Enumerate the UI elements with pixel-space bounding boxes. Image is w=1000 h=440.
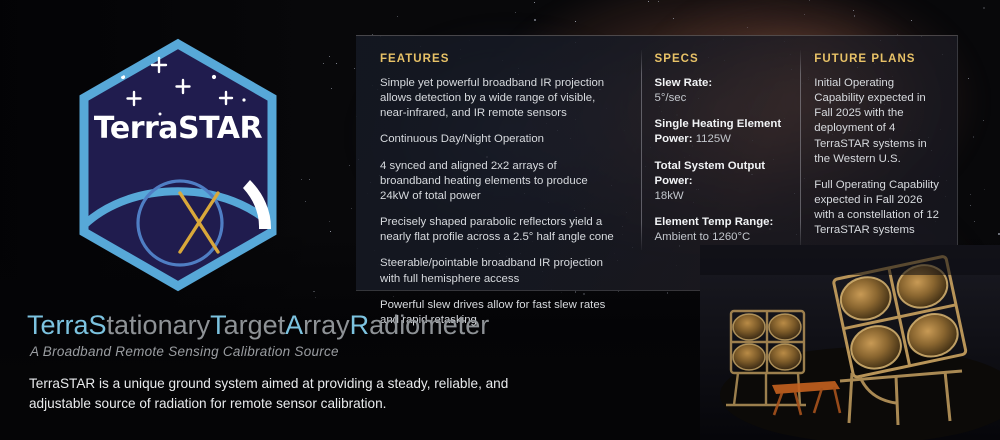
subtitle: A Broadband Remote Sensing Calibration S… — [30, 344, 339, 359]
spec-label: Slew Rate: — [655, 77, 713, 89]
acronym-part: rray — [303, 310, 350, 340]
terrastar-badge-logo: TerraSTAR — [68, 38, 288, 292]
acronym-part: A — [285, 310, 303, 340]
specs-heading: SPECS — [655, 53, 789, 65]
reflector-array-illustration — [700, 245, 1000, 440]
spec-row: Element Temp Range: Ambient to 1260°C — [655, 215, 789, 245]
badge-wordmark: TerraSTAR — [94, 111, 263, 146]
future-plans-item: Initial Operating Capability expected in… — [814, 76, 943, 167]
acronym-part: arget — [224, 310, 286, 340]
spec-label: Total System Output Power: — [655, 160, 766, 187]
spec-label: Element Temp Range: — [655, 216, 774, 228]
reflector-array-photo — [700, 245, 1000, 440]
spec-row: Single Heating Element Power: 1125W — [655, 117, 789, 147]
features-item: Precisely shaped parabolic reflectors yi… — [380, 215, 619, 245]
acronym-title: TerraStationaryTargetArrayRadiometer — [27, 312, 489, 339]
column-divider — [800, 50, 801, 250]
acronym-part: Terra — [27, 310, 89, 340]
lead-paragraph: TerraSTAR is a unique ground system aime… — [29, 374, 529, 414]
spec-value: Ambient to 1260°C — [655, 231, 751, 243]
acronym-part: S — [89, 310, 107, 340]
spec-value: 5°/sec — [655, 92, 687, 104]
hexagon-outline — [84, 44, 272, 286]
features-item: Steerable/pointable broadband IR project… — [380, 256, 619, 286]
acronym-part: tationary — [107, 310, 211, 340]
badge-svg: TerraSTAR — [68, 38, 288, 292]
poster-canvas: TerraSTAR FEATURES Simple yet powerful b… — [0, 0, 1000, 440]
spec-value: 1125W — [696, 133, 731, 145]
acronym-part: R — [350, 310, 370, 340]
spec-value: 18kW — [655, 190, 684, 202]
spec-row: Total System Output Power: 18kW — [655, 159, 789, 204]
features-item: Simple yet powerful broadband IR project… — [380, 76, 619, 121]
column-divider — [641, 50, 642, 250]
future-plans-item: Full Operating Capability expected in Fa… — [814, 178, 943, 239]
acronym-part: adiometer — [369, 310, 489, 340]
acronym-part: T — [210, 310, 224, 340]
spec-row: Slew Rate: 5°/sec — [655, 76, 789, 106]
column-features: FEATURES Simple yet powerful broadband I… — [356, 36, 641, 290]
features-heading: FEATURES — [380, 53, 619, 65]
features-item: Continuous Day/Night Operation — [380, 132, 619, 147]
future-plans-heading: FUTURE PLANS — [814, 53, 943, 65]
features-item: 4 synced and aligned 2x2 arrays of broan… — [380, 159, 619, 204]
